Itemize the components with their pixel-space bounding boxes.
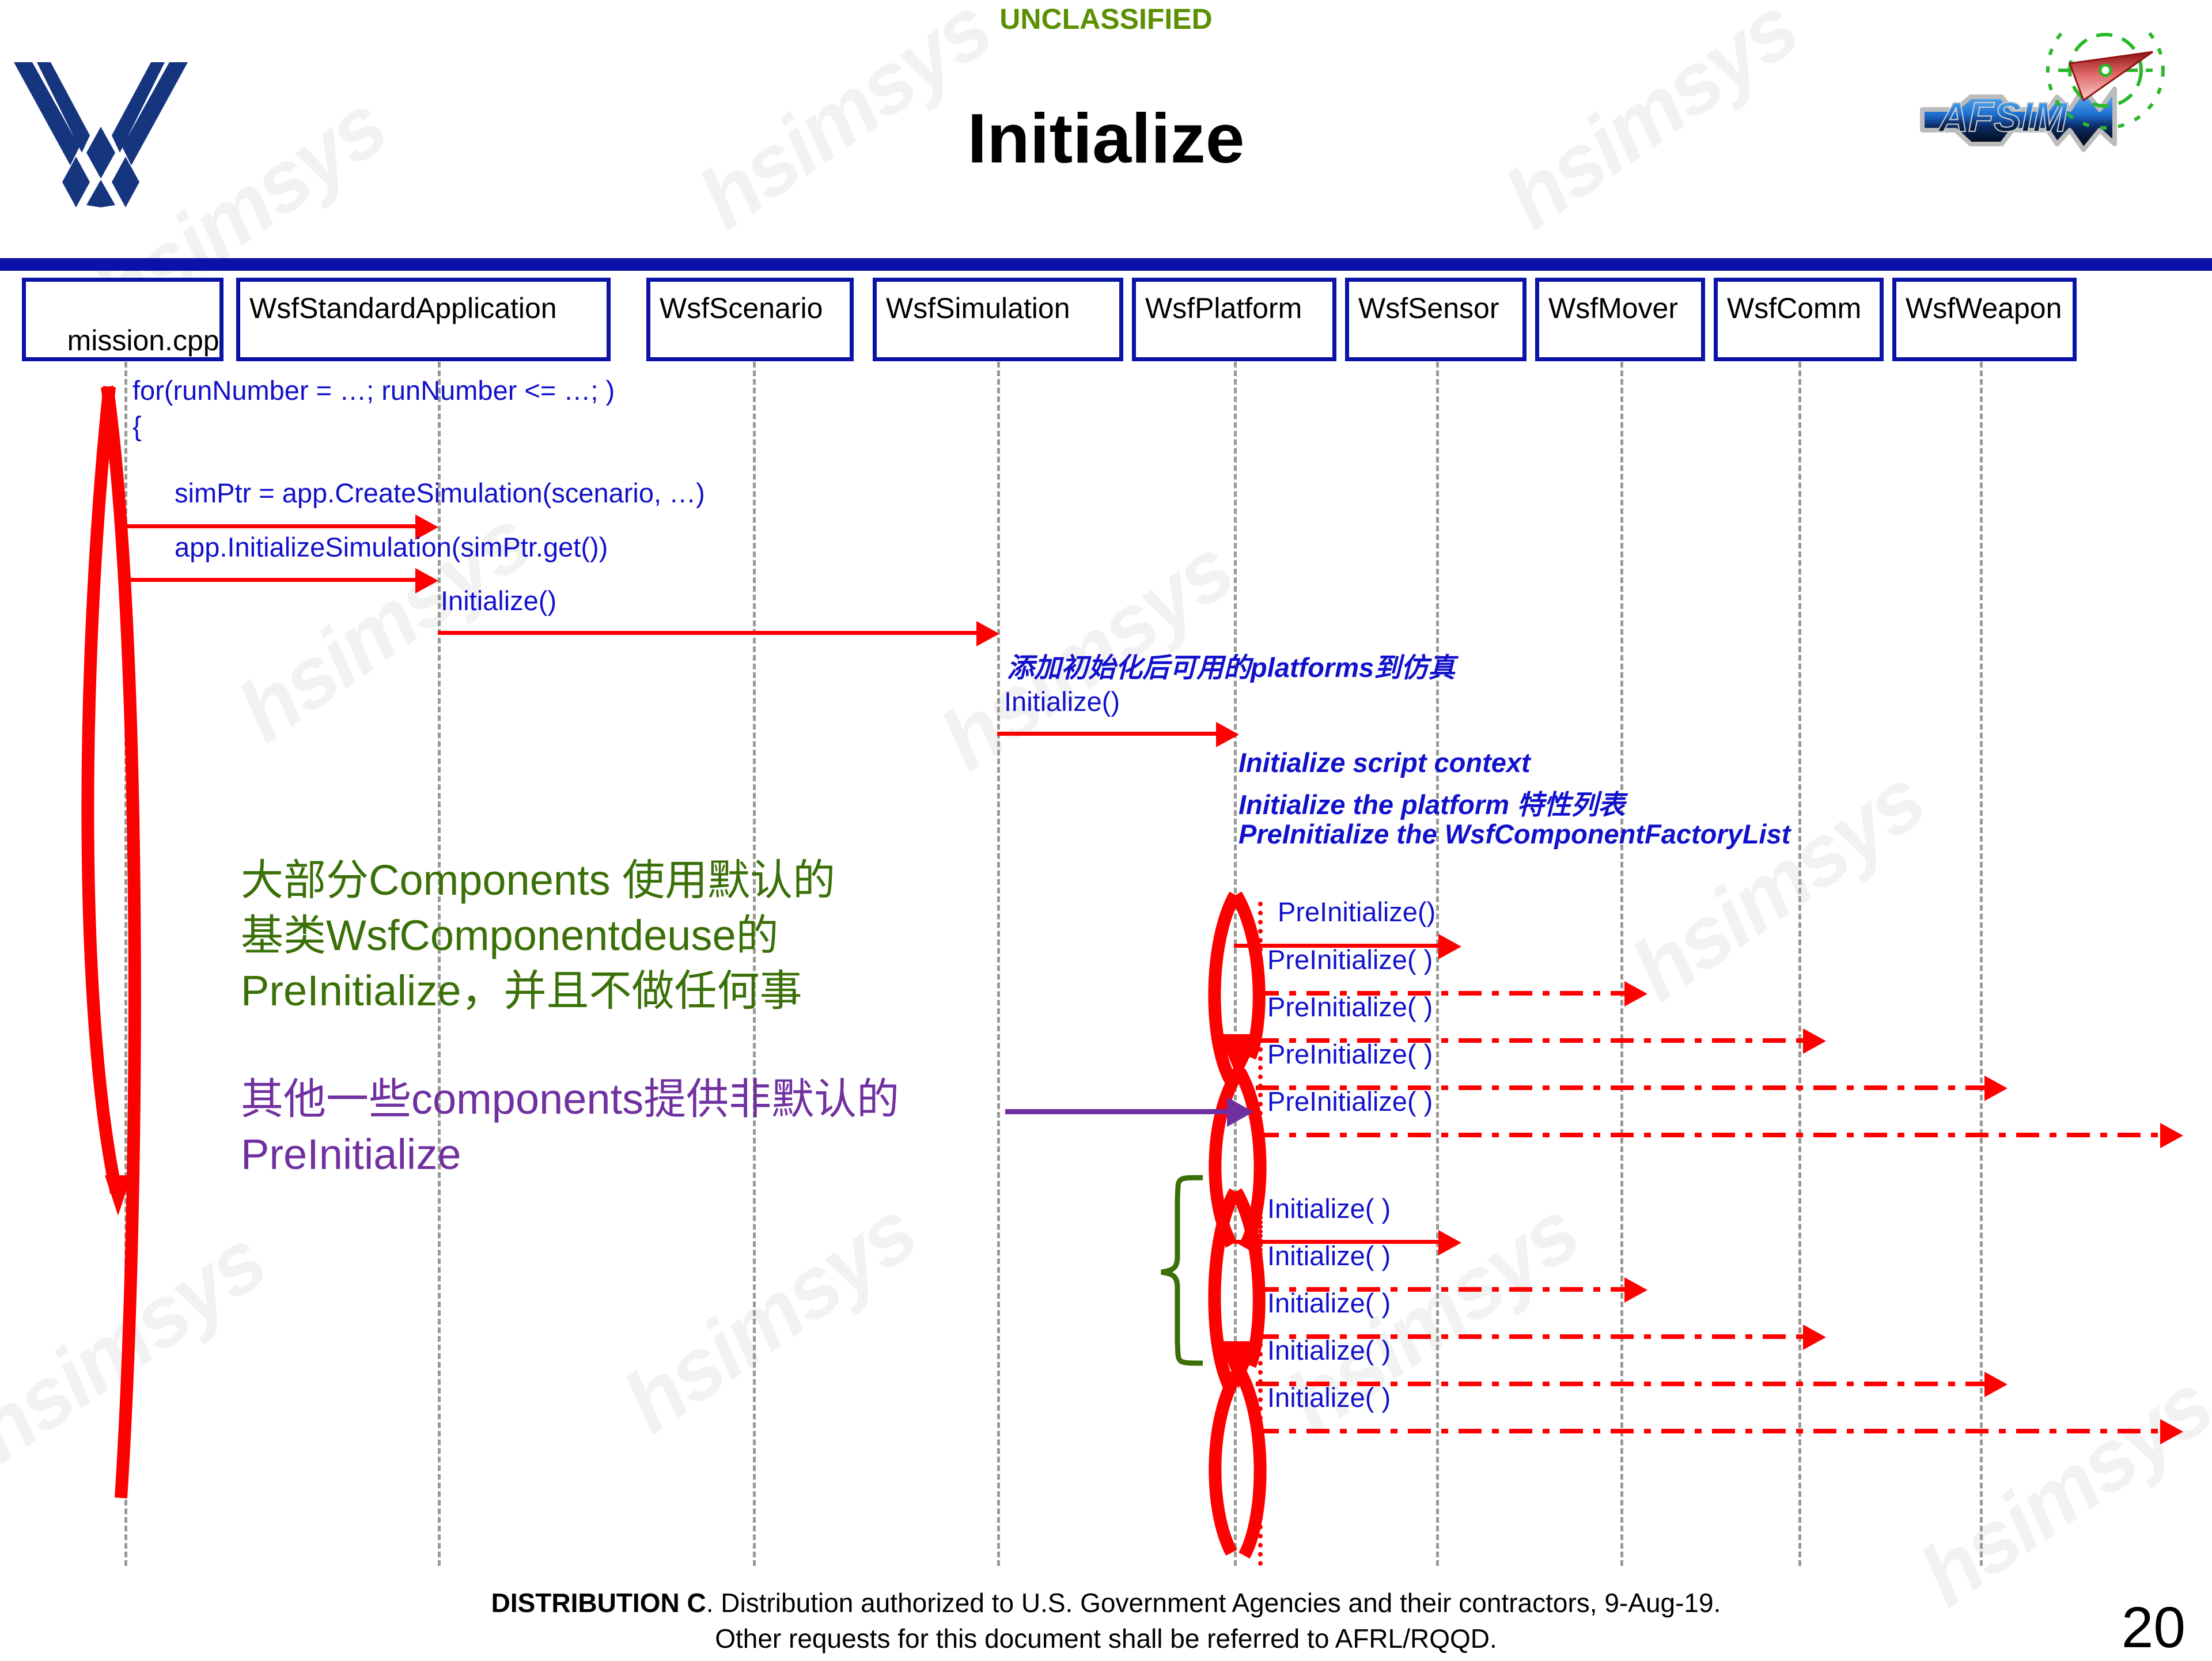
message-label-initialize-simulation-platform: Initialize() <box>1004 686 1120 717</box>
message-label-initialize-2: Initialize( ) <box>1267 1287 1391 1319</box>
lifeline-box-wsfweapon[interactable]: WsfWeapon <box>1892 278 2077 361</box>
note-add-platforms: 添加初始化后可用的platforms到仿真 <box>1007 645 1455 685</box>
lifeline-box-mission-cpp[interactable]: mission.cpp: main( ) <box>22 278 224 361</box>
note-initialize-platform-list: Initialize the platform 特性列表 <box>1238 782 1625 822</box>
classification-banner: UNCLASSIFIED <box>0 2 2212 36</box>
lifeline-label: WsfStandardApplication <box>249 292 557 324</box>
annotation-green: 大部分Components 使用默认的 基类WsfComponentdeuse的… <box>241 853 835 1019</box>
lifeline-label: mission.cpp: main( ) <box>35 324 224 361</box>
page-number: 20 <box>2122 1595 2186 1661</box>
message-label-for-loop: for(runNumber = …; runNumber <= …; ) <box>132 374 615 406</box>
message-label-initialize-simulation: app.InitializeSimulation(simPtr.get()) <box>175 531 608 563</box>
lifeline-box-wsfscenario[interactable]: WsfScenario <box>646 278 854 361</box>
message-label-preinitialize-4: PreInitialize( ) <box>1267 1085 1433 1117</box>
message-label-create-simulation: simPtr = app.CreateSimulation(scenario, … <box>175 477 705 509</box>
lifeline-label: WsfMover <box>1548 292 1678 324</box>
lifeline-wsfsimulation <box>997 362 1003 1566</box>
lifeline-box-wsfstandardapplication[interactable]: WsfStandardApplication <box>236 278 611 361</box>
message-label-initialize-scenario: Initialize() <box>441 585 556 616</box>
lifeline-label: WsfSensor <box>1358 292 1499 324</box>
lifeline-box-wsfplatform[interactable]: WsfPlatform <box>1132 278 1336 361</box>
message-label-initialize-0: Initialize( ) <box>1267 1193 1391 1224</box>
message-label-preinitialize-2: PreInitialize( ) <box>1267 991 1433 1023</box>
message-label-open-brace: { <box>132 410 142 442</box>
message-label-initialize-1: Initialize( ) <box>1267 1240 1391 1272</box>
page-title: Initialize <box>0 98 2212 179</box>
uml-sequence-diagram: mission.cpp: main( ) WsfStandardApplicat… <box>0 271 2212 1567</box>
activation-main-loop <box>86 386 179 1533</box>
header-divider <box>0 258 2212 271</box>
lifeline-box-wsfcomm[interactable]: WsfComm <box>1714 278 1884 361</box>
message-label-preinitialize-0: PreInitialize() <box>1278 896 1435 928</box>
lifeline-label: WsfComm <box>1727 292 1861 324</box>
grouping-brace <box>1106 1175 1215 1365</box>
lifeline-box-wsfsensor[interactable]: WsfSensor <box>1345 278 1527 361</box>
message-label-preinitialize-3: PreInitialize( ) <box>1267 1038 1433 1070</box>
footer: DISTRIBUTION C. Distribution authorized … <box>0 1586 2212 1656</box>
message-label-initialize-4: Initialize( ) <box>1267 1382 1391 1413</box>
annotation-purple: 其他一些components提供非默认的 PreInitialize <box>241 1072 899 1182</box>
message-label-preinitialize-1: PreInitialize( ) <box>1267 944 1433 975</box>
footer-line-1: DISTRIBUTION C. Distribution authorized … <box>0 1586 2212 1621</box>
footer-distribution-label: DISTRIBUTION C <box>491 1588 706 1618</box>
note-preinitialize-factorylist: PreInitialize the WsfComponentFactoryLis… <box>1238 818 1790 850</box>
message-label-initialize-3: Initialize( ) <box>1267 1334 1391 1366</box>
footer-distribution-text: . Distribution authorized to U.S. Govern… <box>706 1588 1721 1618</box>
note-initialize-script-context: Initialize script context <box>1238 747 1531 778</box>
lifeline-label: WsfScenario <box>660 292 823 324</box>
lifeline-box-wsfsimulation[interactable]: WsfSimulation <box>873 278 1123 361</box>
footer-line-2: Other requests for this document shall b… <box>0 1621 2212 1657</box>
lifeline-box-wsfmover[interactable]: WsfMover <box>1535 278 1705 361</box>
lifeline-label: WsfSimulation <box>886 292 1070 324</box>
lifeline-label: WsfWeapon <box>1906 292 2062 324</box>
lifeline-label: WsfPlatform <box>1145 292 1302 324</box>
